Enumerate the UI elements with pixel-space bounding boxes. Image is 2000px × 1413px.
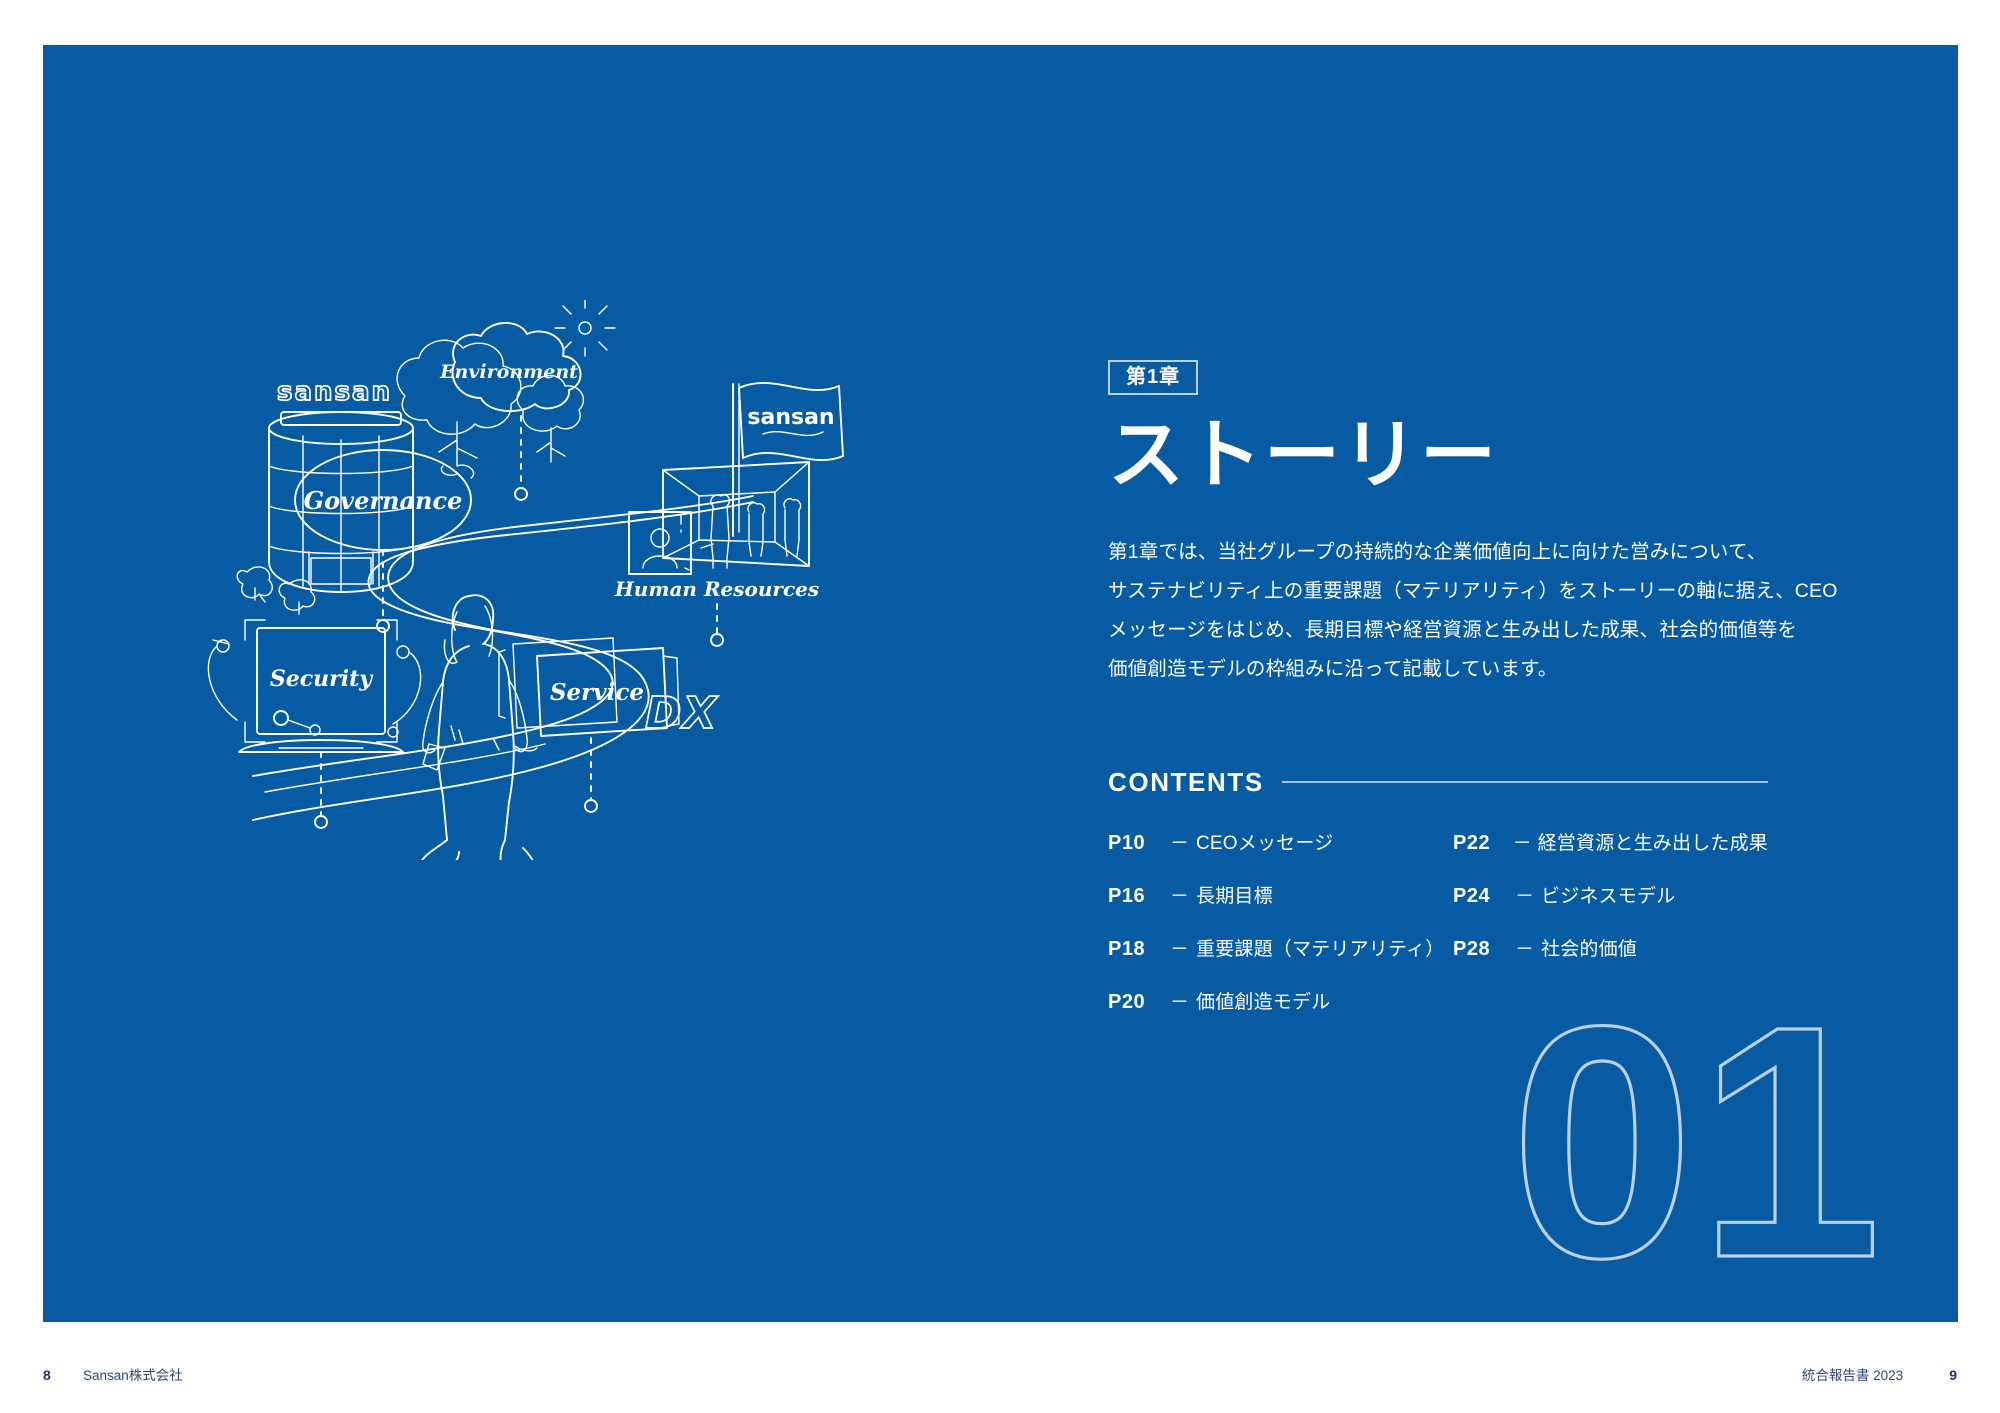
toc-page-number: P24 bbox=[1453, 885, 1515, 908]
governance-node: Governance bbox=[295, 450, 471, 632]
toc-entry[interactable]: P20 － 価値創造モデル bbox=[1108, 987, 1453, 1014]
contents-header: CONTENTS bbox=[1108, 767, 1768, 798]
toc-label: 価値創造モデル bbox=[1196, 987, 1330, 1014]
footer-left-company: Sansan株式会社 bbox=[83, 1364, 183, 1384]
toc-page-number: P28 bbox=[1453, 938, 1515, 961]
toc-entry[interactable]: P22 － 経営資源と生み出した成果 bbox=[1453, 828, 1768, 855]
building-logo-text: sansan bbox=[277, 377, 392, 407]
footer-left-page-number: 8 bbox=[43, 1367, 83, 1383]
toc-label: 社会的価値 bbox=[1541, 934, 1637, 961]
sansan-flag: sansan bbox=[733, 383, 843, 536]
service-dx-node: Service DX bbox=[499, 638, 719, 812]
toc-dash: － bbox=[1515, 881, 1541, 908]
security-label: Security bbox=[270, 666, 374, 692]
contents-heading: CONTENTS bbox=[1108, 767, 1264, 798]
toc-entry[interactable]: P18 － 重要課題（マテリアリティ） bbox=[1108, 934, 1453, 961]
flag-logo-text: sansan bbox=[747, 405, 834, 430]
toc-dash: － bbox=[1170, 987, 1196, 1014]
toc-dash: － bbox=[1170, 828, 1196, 855]
toc-dash: － bbox=[1515, 934, 1541, 961]
toc-entry[interactable]: P10 － CEOメッセージ bbox=[1108, 828, 1453, 855]
contents-block: CONTENTS P10 － CEOメッセージ P16 － 長期目標 bbox=[1108, 767, 1808, 1040]
toc-entry[interactable]: P28 － 社会的価値 bbox=[1453, 934, 1768, 961]
toc-dash: － bbox=[1170, 934, 1196, 961]
toc-label: 重要課題（マテリアリティ） bbox=[1196, 934, 1444, 961]
lede-line-2: サステナビリティ上の重要課題（マテリアリティ）をストーリーの軸に据え、CEO bbox=[1108, 572, 1788, 611]
footer-right: 統合報告書 2023 9 bbox=[1802, 1364, 1957, 1384]
environment-node: Environment bbox=[397, 300, 615, 500]
toc-label: 経営資源と生み出した成果 bbox=[1538, 828, 1768, 855]
lede-line-3: メッセージをはじめ、長期目標や経営資源と生み出した成果、社会的価値等を bbox=[1108, 611, 1788, 650]
toc-page-number: P20 bbox=[1108, 991, 1170, 1014]
toc-page-number: P22 bbox=[1453, 832, 1513, 855]
editorial-column: 第1章 ストーリー 第1章では、当社グループの持続的な企業価値向上に向けた営みに… bbox=[1108, 360, 1808, 1040]
toc-label: ビジネスモデル bbox=[1541, 881, 1675, 908]
contents-divider bbox=[1282, 781, 1768, 783]
page-title: ストーリー bbox=[1108, 417, 1808, 495]
toc-dash: － bbox=[1170, 881, 1196, 908]
toc-page-number: P16 bbox=[1108, 885, 1170, 908]
footer-right-page-number: 9 bbox=[1949, 1367, 1957, 1383]
toc-page-number: P18 bbox=[1108, 938, 1170, 961]
contents-column-right: P22 － 経営資源と生み出した成果 P24 － ビジネスモデル P28 － bbox=[1453, 828, 1768, 1040]
page-spread: sansan Governance bbox=[0, 0, 2000, 1413]
contents-columns: P10 － CEOメッセージ P16 － 長期目標 P18 － 重要課題 bbox=[1108, 828, 1808, 1040]
human-resources-label: Human Resources bbox=[614, 577, 819, 601]
toc-entry[interactable]: P24 － ビジネスモデル bbox=[1453, 881, 1768, 908]
toc-label: CEOメッセージ bbox=[1196, 828, 1333, 855]
toc-entry[interactable]: P16 － 長期目標 bbox=[1108, 881, 1453, 908]
footer-left: 8 Sansan株式会社 bbox=[43, 1364, 183, 1384]
chapter-badge: 第1章 bbox=[1108, 360, 1198, 395]
toc-page-number: P10 bbox=[1108, 832, 1170, 855]
lede-line-4: 価値創造モデルの枠組みに沿って記載しています。 bbox=[1108, 650, 1788, 689]
lede-line-1: 第1章では、当社グループの持続的な企業価値向上に向けた営みについて、 bbox=[1108, 533, 1788, 572]
toc-label: 長期目標 bbox=[1196, 881, 1273, 908]
governance-label: Governance bbox=[304, 486, 463, 515]
chapter-illustration: sansan Governance bbox=[193, 300, 873, 860]
dx-label: DX bbox=[645, 688, 719, 739]
chapter-cover-panel: sansan Governance bbox=[43, 45, 1958, 1322]
footer-right-report-title: 統合報告書 2023 bbox=[1802, 1364, 1903, 1384]
toc-dash: － bbox=[1513, 828, 1538, 855]
lede-paragraph: 第1章では、当社グループの持続的な企業価値向上に向けた営みについて、 サステナビ… bbox=[1108, 533, 1788, 689]
environment-label: Environment bbox=[439, 361, 578, 383]
service-label: Service bbox=[550, 679, 644, 706]
contents-column-left: P10 － CEOメッセージ P16 － 長期目標 P18 － 重要課題 bbox=[1108, 828, 1453, 1040]
human-resources-node: Human Resources bbox=[614, 462, 819, 646]
